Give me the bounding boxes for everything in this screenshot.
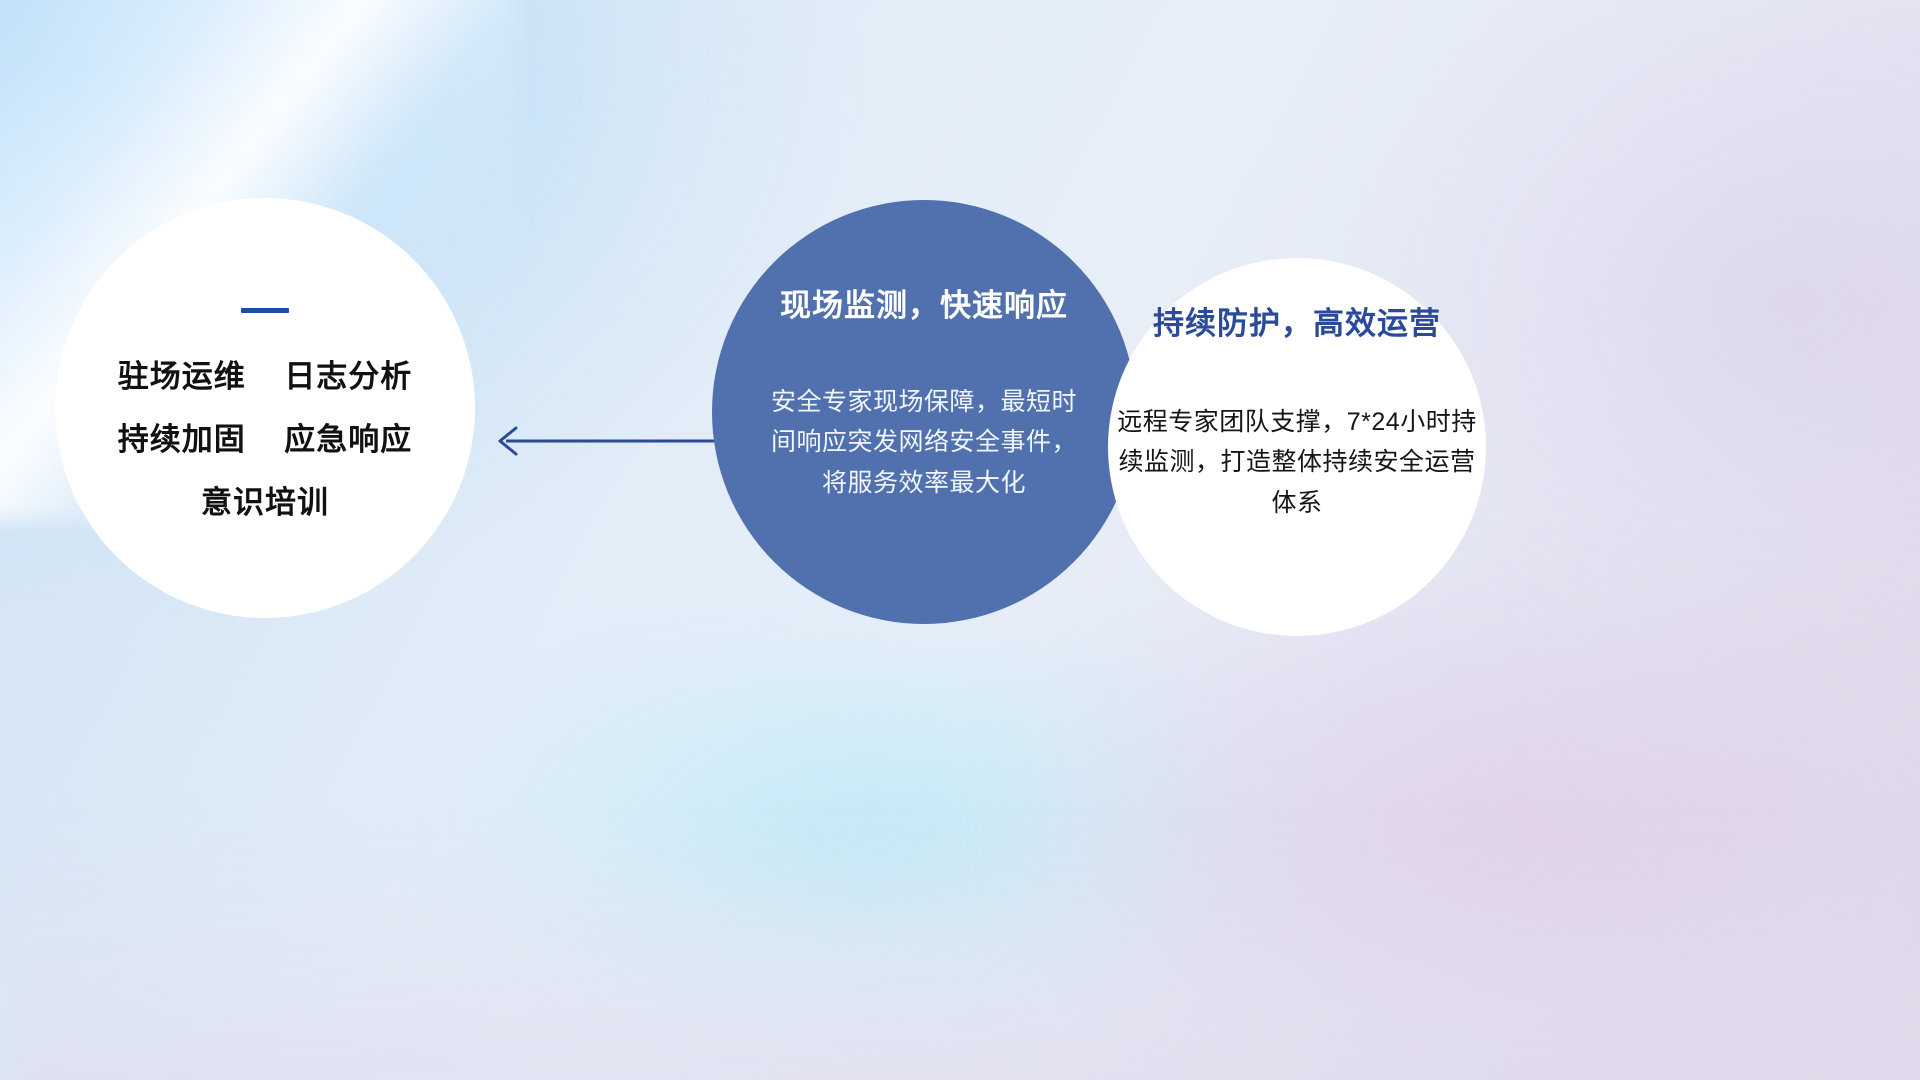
flow-arrow-left-icon bbox=[480, 412, 720, 470]
onsite-monitoring-body: 安全专家现场保障，最短时间响应突发网络安全事件，将服务效率最大化 bbox=[704, 382, 1144, 504]
continuous-protection-title: 持续防护，高效运营 bbox=[1088, 306, 1506, 342]
capability-line: 驻场运维 日志分析 bbox=[55, 361, 475, 392]
onsite-monitoring-content: 现场监测，快速响应 安全专家现场保障，最短时间响应突发网络安全事件，将服务效率最… bbox=[704, 288, 1144, 503]
capability-line: 持续加固 应急响应 bbox=[55, 424, 475, 455]
capabilities-circle[interactable]: 驻场运维 日志分析 持续加固 应急响应 意识培训 bbox=[55, 198, 475, 618]
accent-dash-icon bbox=[241, 308, 289, 313]
capabilities-content: 驻场运维 日志分析 持续加固 应急响应 意识培训 bbox=[55, 308, 475, 518]
continuous-protection-content: 持续防护，高效运营 远程专家团队支撑，7*24小时持续监测，打造整体持续安全运营… bbox=[1088, 306, 1506, 523]
background-bottom-fade bbox=[0, 820, 1920, 1080]
continuous-protection-circle[interactable]: 持续防护，高效运营 远程专家团队支撑，7*24小时持续监测，打造整体持续安全运营… bbox=[1108, 258, 1486, 636]
onsite-monitoring-circle[interactable]: 现场监测，快速响应 安全专家现场保障，最短时间响应突发网络安全事件，将服务效率最… bbox=[712, 200, 1136, 624]
slide-canvas: 驻场运维 日志分析 持续加固 应急响应 意识培训 现场监测，快速响应 安全专家现… bbox=[0, 0, 1920, 1080]
capability-line: 意识培训 bbox=[55, 487, 475, 518]
continuous-protection-body: 远程专家团队支撑，7*24小时持续监测，打造整体持续安全运营体系 bbox=[1088, 402, 1506, 524]
onsite-monitoring-title: 现场监测，快速响应 bbox=[704, 288, 1144, 324]
